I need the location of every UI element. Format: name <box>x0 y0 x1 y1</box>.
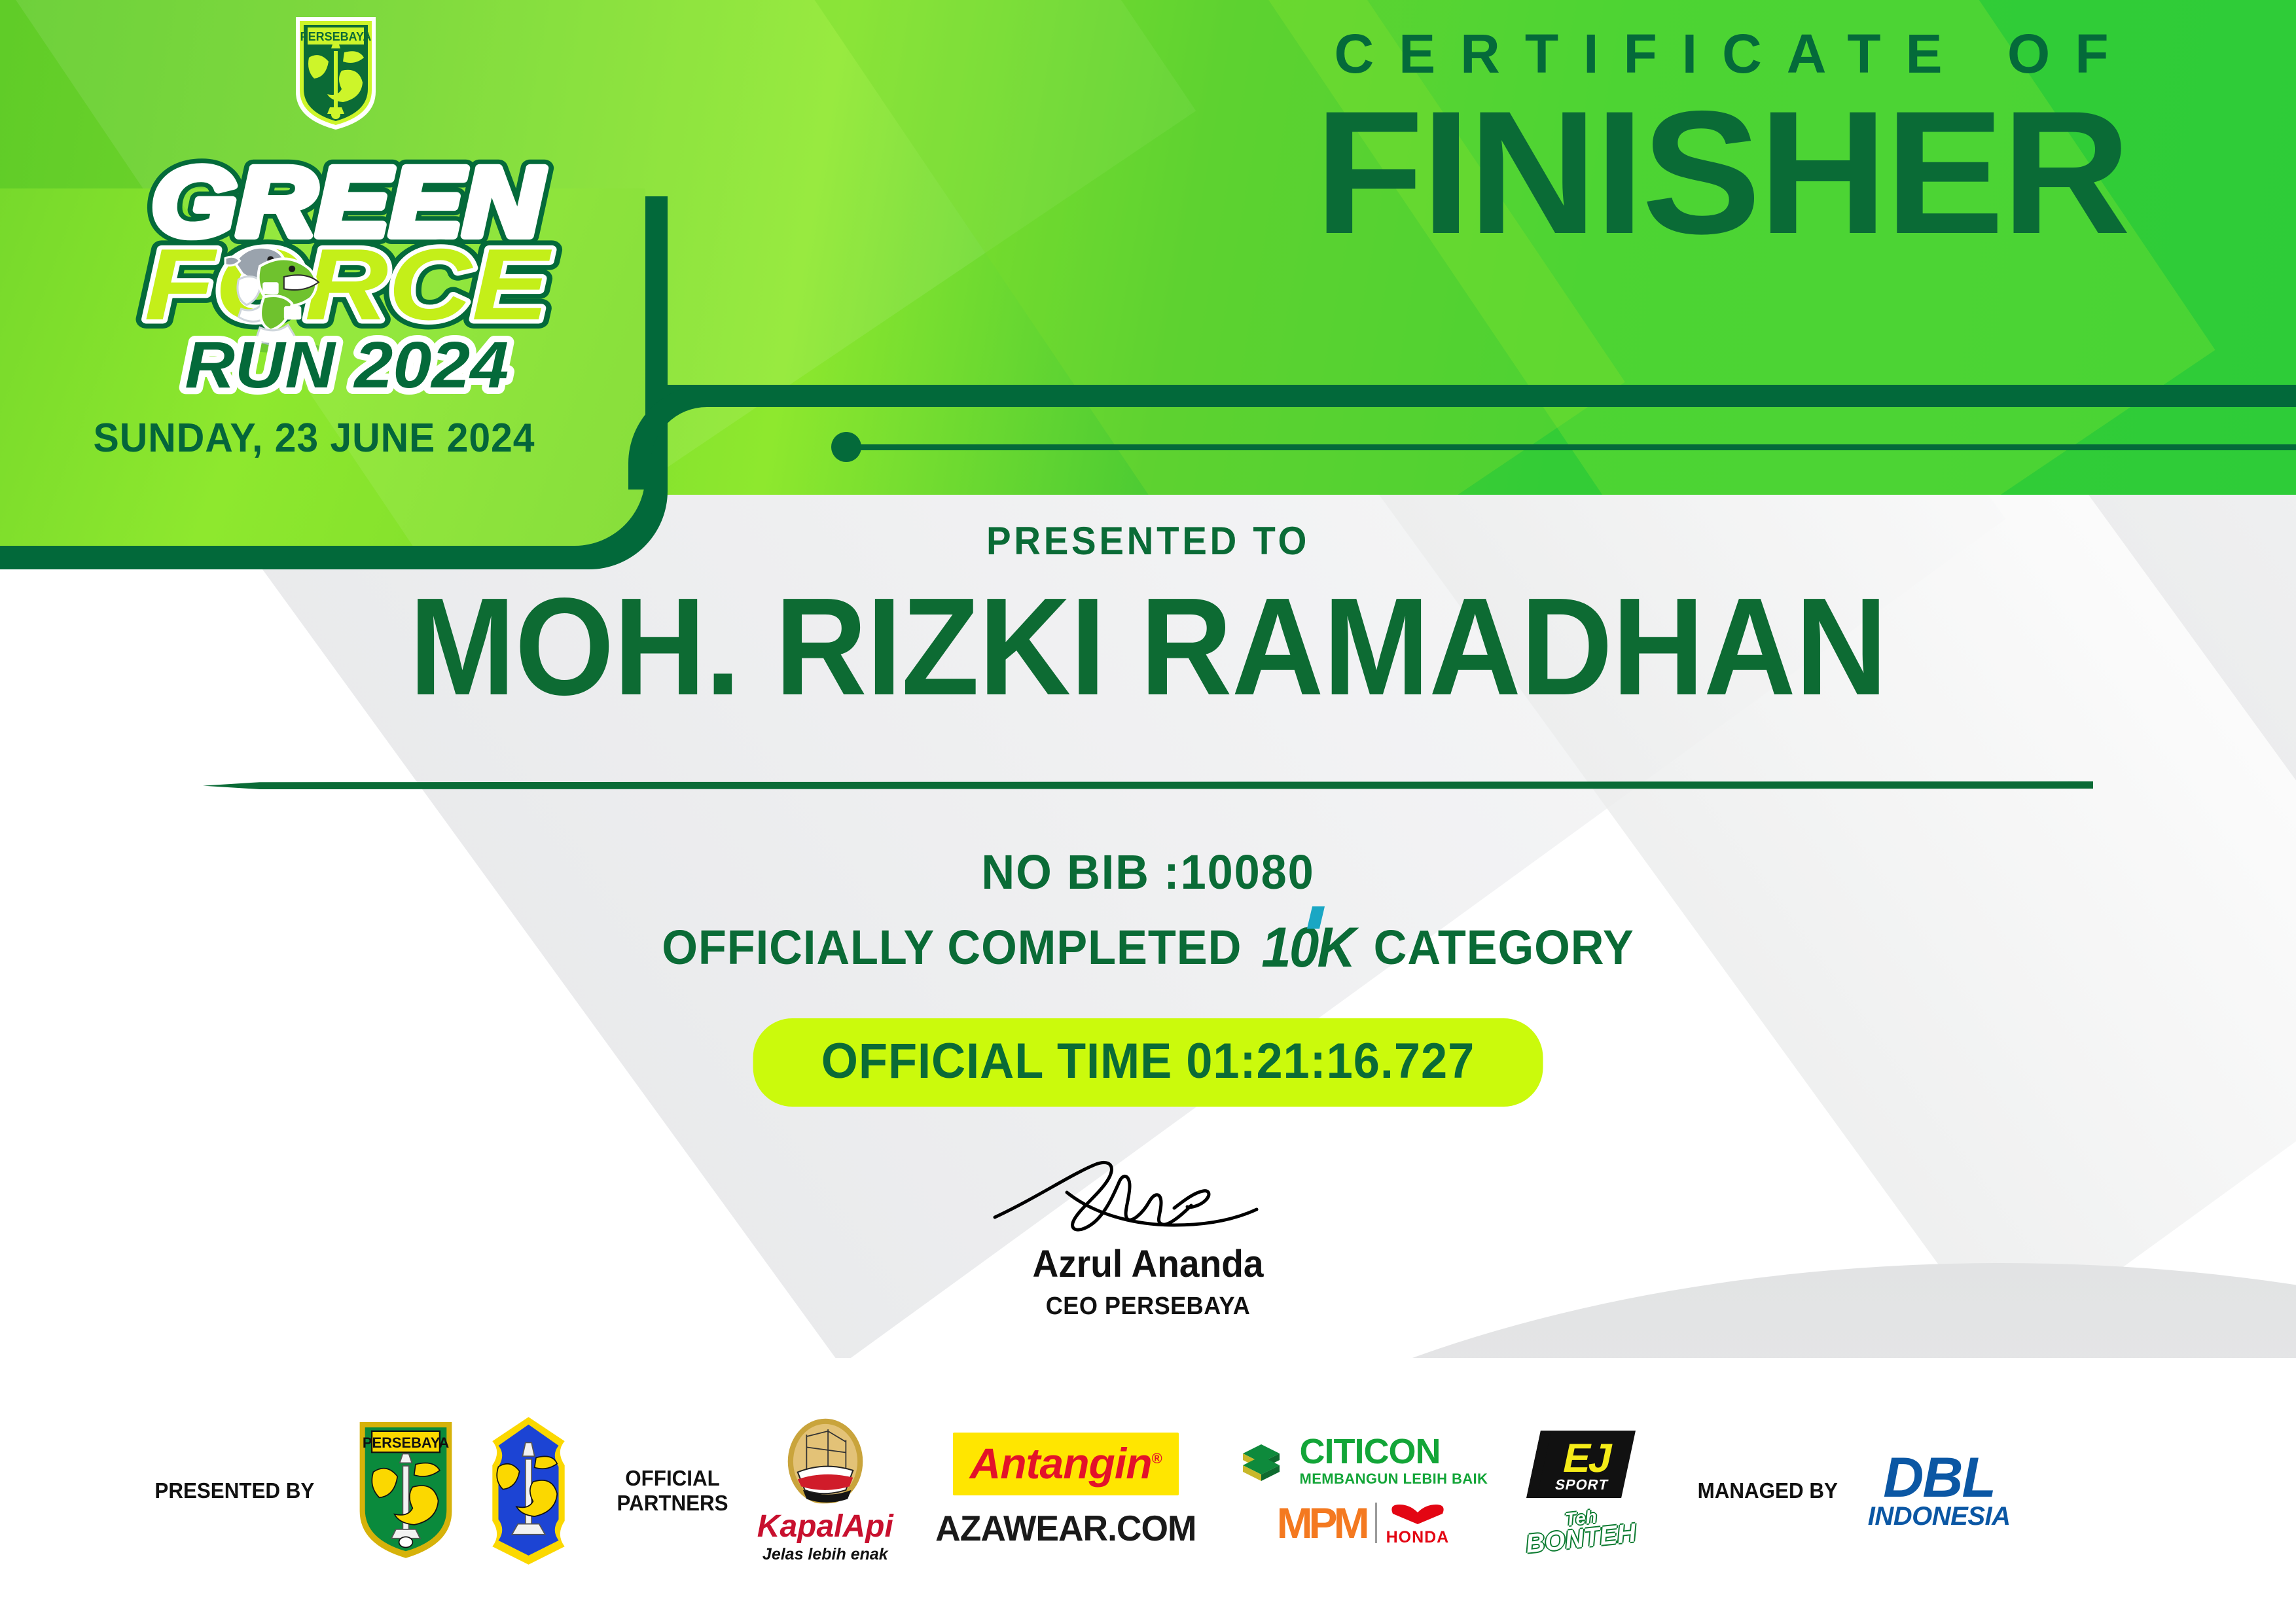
green-force-run-logo: GREEN GREEN GREEN FORCE FORCE FORCE <box>72 144 622 406</box>
accent-dot-icon <box>831 432 861 462</box>
signature-icon <box>939 1153 1357 1238</box>
category-prefix: OFFICIALLY COMPLETED <box>662 920 1242 974</box>
sponsor-footer: PRESENTED BY PERSEBAYA <box>0 1358 2296 1623</box>
svg-text:PERSEBAYA: PERSEBAYA <box>300 30 372 43</box>
sponsor-persebaya-logo: PERSEBAYA <box>357 1419 455 1563</box>
presented-by-label: PRESENTED BY <box>154 1478 314 1503</box>
certificate-title: CERTIFICATE OF FINISHER <box>1191 26 2251 253</box>
svg-text:RUN 2024: RUN 2024 <box>185 329 509 402</box>
official-partners-label: OFFICIAL PARTNERS <box>617 1466 728 1515</box>
header-rail <box>628 385 2296 407</box>
sponsor-kapal-api-logo: KapalApi Jelas lebih enak <box>757 1417 893 1564</box>
name-divider <box>203 781 2093 789</box>
signature-block: Azrul Ananda CEO PERSEBAYA <box>0 1153 2296 1321</box>
sponsor-antangin-logo: Antangin® <box>953 1433 1179 1495</box>
presented-to-label: PRESENTED TO <box>69 518 2227 563</box>
official-time-text: OFFICIAL TIME 01:21:16.727 <box>821 1033 1475 1090</box>
sponsor-mpm-honda-logo: MPM HONDA <box>1277 1498 1450 1547</box>
title-subheading: CERTIFICATE OF <box>1191 26 2251 81</box>
kapal-api-ship-icon <box>776 1417 874 1515</box>
antangin-registered-icon: ® <box>1152 1450 1162 1467</box>
ej-name: EJ <box>1560 1440 1615 1477</box>
sponsor-dbl-indonesia-logo: DBL INDONESIA <box>1868 1452 2011 1529</box>
sponsor-antangin-azawear-group: Antangin® AZAWEAR.COM <box>931 1433 1200 1549</box>
sponsor-azawear-logo: AZAWEAR.COM <box>935 1507 1196 1549</box>
persebaya-crest-icon: PERSEBAYA <box>293 14 378 132</box>
citicon-blocks-icon <box>1238 1434 1291 1486</box>
svg-text:FORCE: FORCE <box>144 228 552 342</box>
antangin-text: Antangin <box>970 1439 1152 1488</box>
sponsor-teh-bonteh-logo: Teh BONTEH <box>1526 1510 1636 1551</box>
ej-sub: SPORT <box>1554 1478 1610 1491</box>
sponsor-citicon-logo: CITICON MEMBANGUN LEBIH BAIK <box>1238 1434 1488 1486</box>
category-suffix: CATEGORY <box>1374 920 1634 974</box>
event-date: SUNDAY, 23 JUNE 2024 <box>16 415 613 461</box>
sponsor-surabaya-logo <box>481 1416 576 1566</box>
accent-line <box>859 444 2296 450</box>
honda-wing-icon <box>1388 1498 1448 1527</box>
dbl-sub: INDONESIA <box>1868 1505 2011 1529</box>
signatory-role: CEO PERSEBAYA <box>58 1293 2239 1321</box>
mpm-divider <box>1375 1503 1377 1543</box>
managed-by-label: MANAGED BY <box>1698 1478 1838 1503</box>
recipient-name: MOH. RIZKI RAMADHAN <box>92 576 2204 717</box>
distance-badge: 10K <box>1261 916 1354 980</box>
citicon-tagline: MEMBANGUN LEBIH BAIK <box>1299 1472 1488 1486</box>
bib-number: NO BIB :10080 <box>58 844 2239 900</box>
kapal-api-name: KapalApi <box>757 1511 893 1543</box>
sponsor-ej-sport-logo: EJ SPORT <box>1526 1431 1636 1498</box>
teh-bonteh-line2: BONTEH <box>1525 1521 1638 1556</box>
certificate-root: PERSEBAYA GREEN GREEN GREEN FORCE FORCE … <box>0 0 2296 1623</box>
title-heading: FINISHER <box>1181 92 2262 253</box>
dbl-name: DBL <box>1883 1452 1995 1505</box>
category-line: OFFICIALLY COMPLETED 10K CATEGORY <box>58 913 2239 978</box>
sponsor-ej-teh-group: EJ SPORT Teh BONTEH <box>1526 1431 1636 1551</box>
honda-name: HONDA <box>1386 1528 1450 1547</box>
kapal-api-tagline: Jelas lebih enak <box>762 1545 888 1564</box>
signatory-name: Azrul Ananda <box>58 1242 2239 1286</box>
citicon-name: CITICON <box>1299 1434 1488 1469</box>
official-time-pill: OFFICIAL TIME 01:21:16.727 <box>753 1018 1543 1107</box>
svg-text:PERSEBAYA: PERSEBAYA <box>363 1435 449 1451</box>
mpm-name: MPM <box>1277 1501 1366 1544</box>
sponsor-citicon-mpm-group: CITICON MEMBANGUN LEBIH BAIK MPM HONDA <box>1238 1434 1488 1547</box>
